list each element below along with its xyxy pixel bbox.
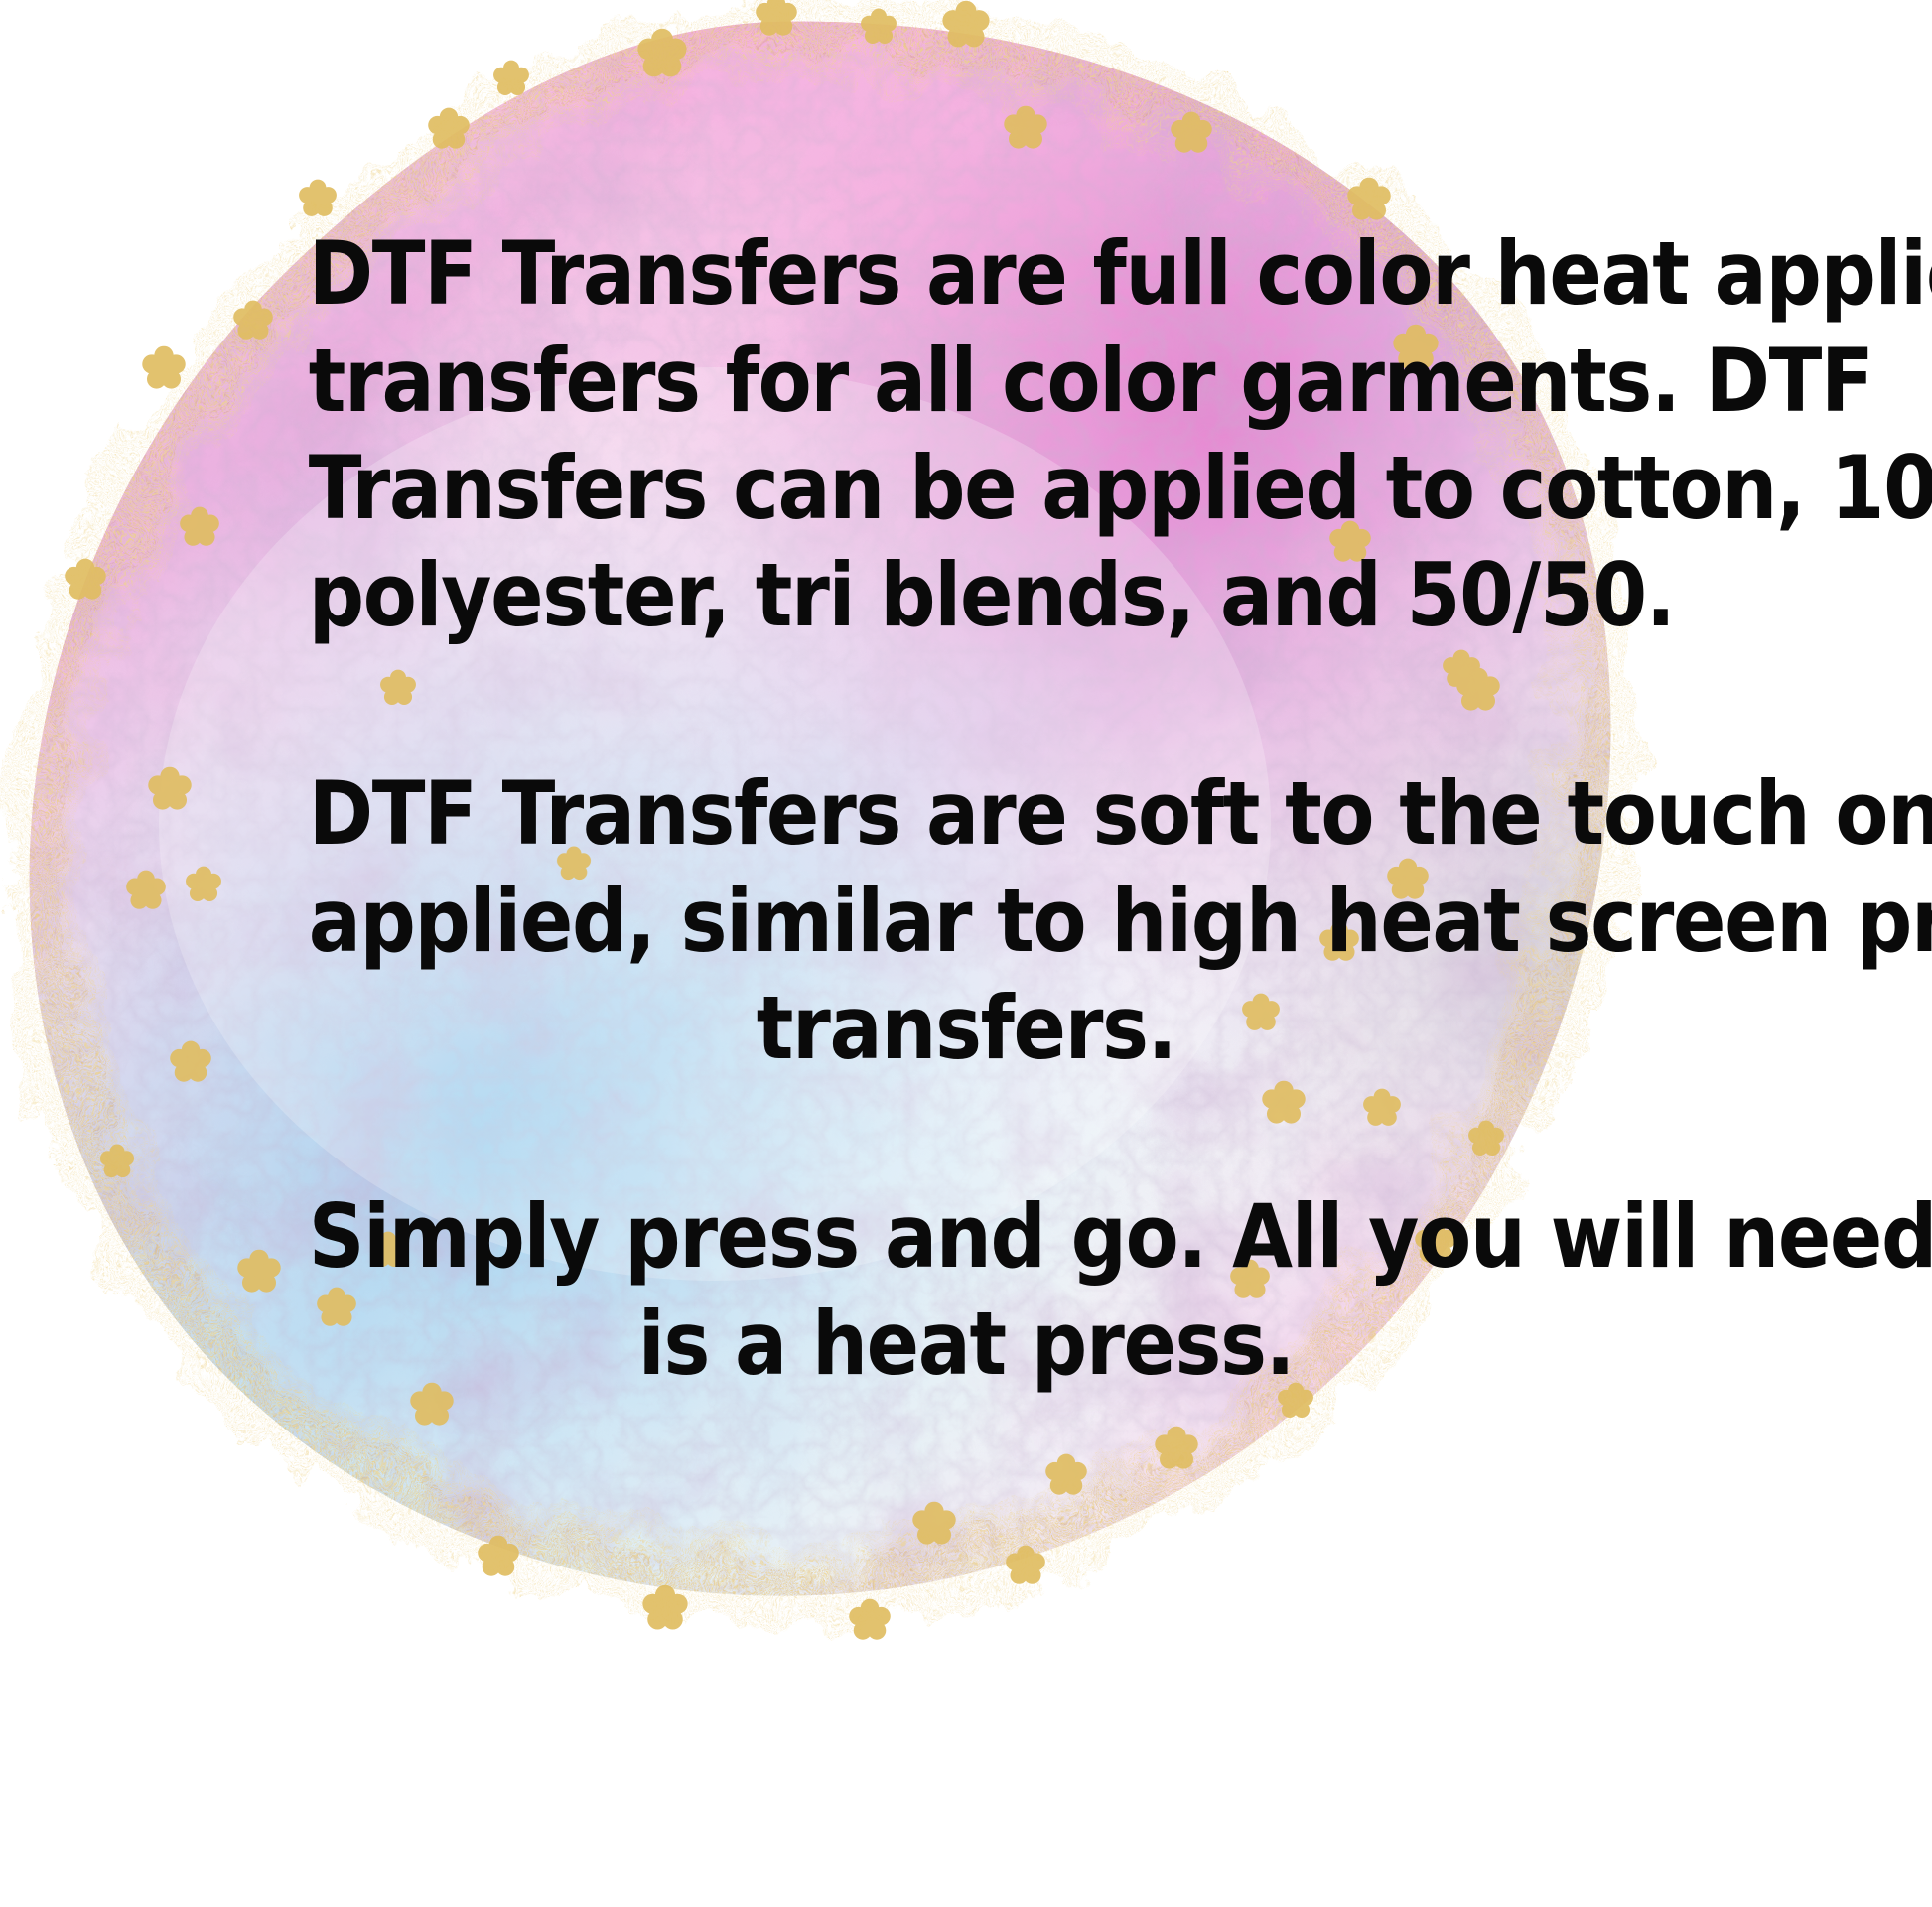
- paragraph-1: DTF Transfers are full color heat applie…: [309, 220, 1624, 649]
- paragraph-3-line-2: is a heat press.: [309, 1291, 1624, 1398]
- paragraph-3: Simply press and go. All you will need i…: [309, 1183, 1624, 1398]
- paragraph-1-line-3: Transfers can be applied to cotton, 100%: [309, 435, 1624, 542]
- paragraph-2-line-2: applied, similar to high heat screen pri…: [309, 868, 1624, 975]
- paragraph-3-line-1: Simply press and go. All you will need: [309, 1183, 1624, 1291]
- paragraph-2-line-1: DTF Transfers are soft to the touch once: [309, 760, 1624, 868]
- text-block: DTF Transfers are full color heat applie…: [0, 0, 1932, 1907]
- paragraph-2: DTF Transfers are soft to the touch once…: [309, 760, 1624, 1082]
- paragraph-2-line-3: transfers.: [309, 975, 1624, 1082]
- paragraph-1-line-2: transfers for all color garments. DTF: [309, 328, 1624, 435]
- poster-canvas: DTF Transfers are full color heat applie…: [0, 0, 1932, 1907]
- paragraph-1-line-1: DTF Transfers are full color heat applie…: [309, 220, 1624, 328]
- paragraph-1-line-4: polyester, tri blends, and 50/50.: [309, 542, 1624, 649]
